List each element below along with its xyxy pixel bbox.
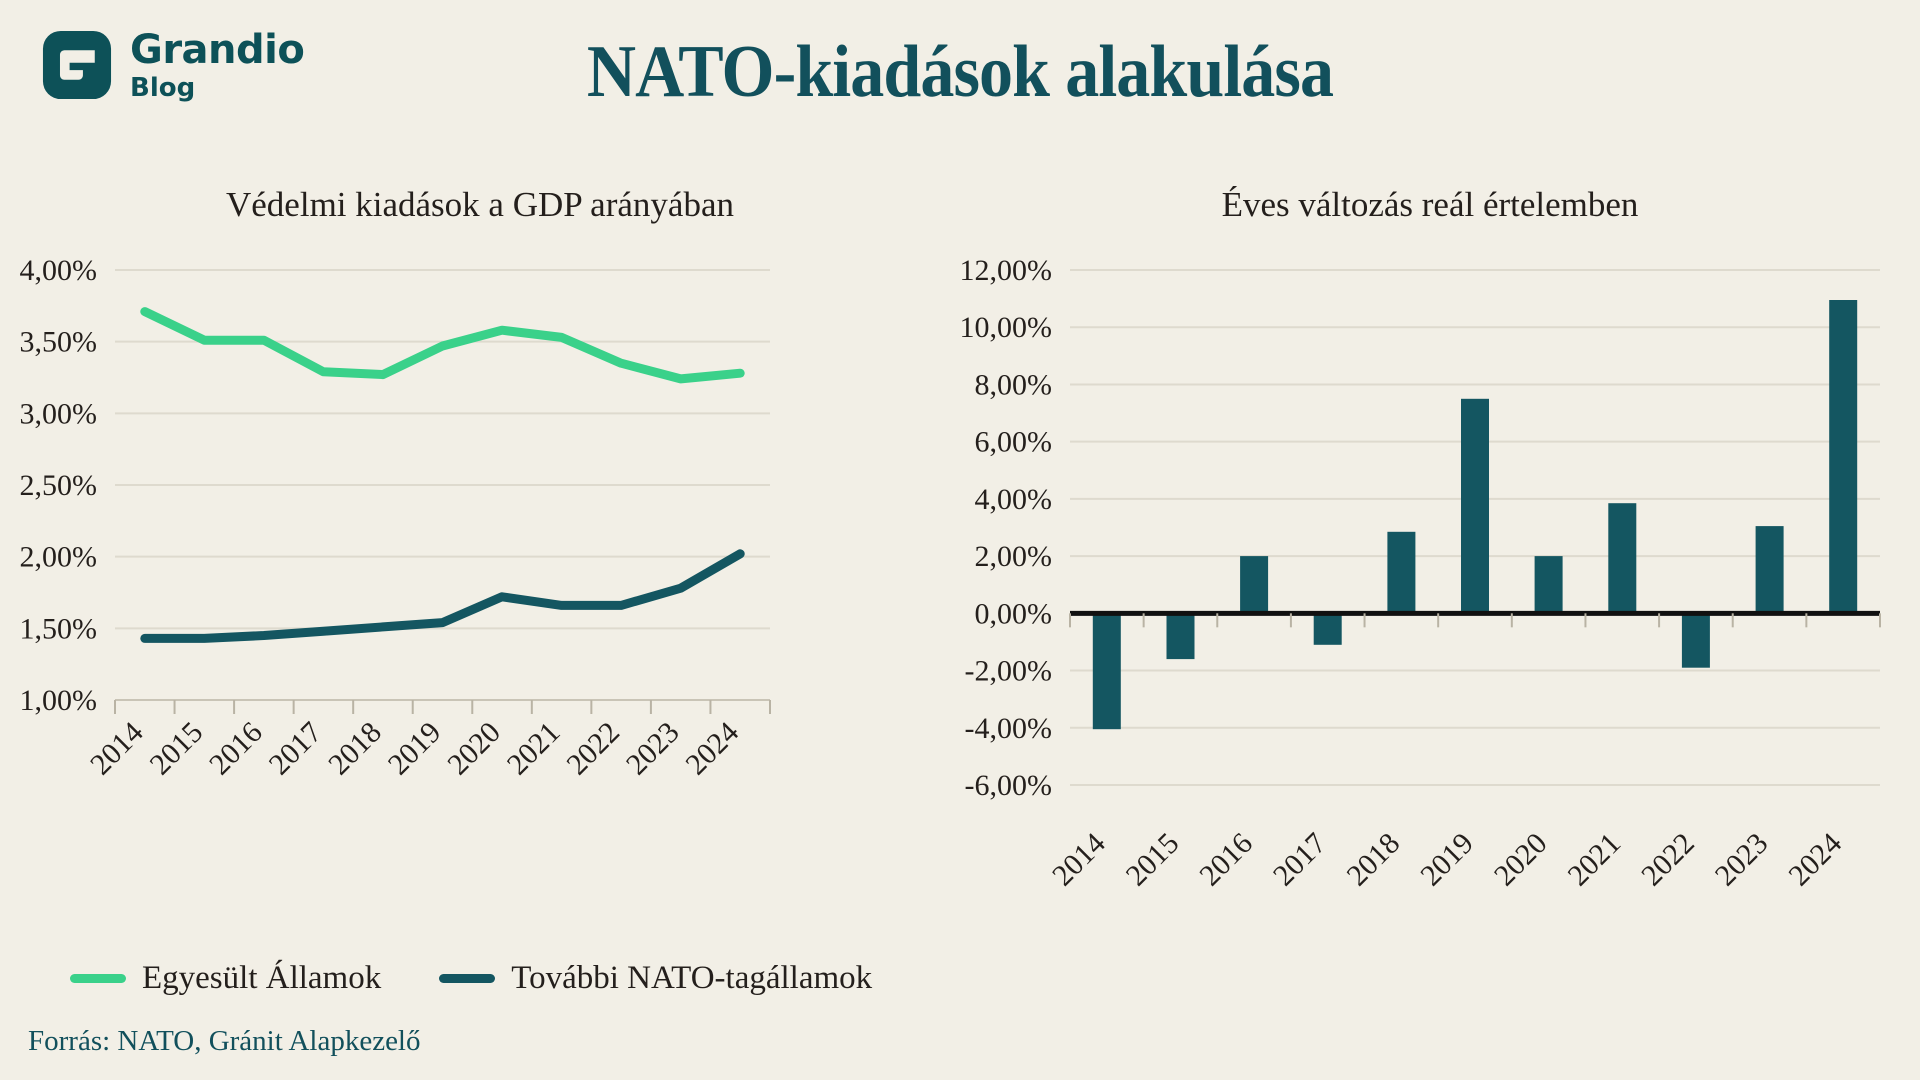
y-tick-label: 2,50%	[20, 469, 98, 502]
bar	[1387, 532, 1415, 614]
bar	[1240, 556, 1268, 613]
legend-item-nato[interactable]: További NATO-tagállamok	[439, 960, 872, 997]
y-tick-label: 4,00%	[20, 254, 98, 287]
bar	[1093, 613, 1121, 729]
left-x-axis: 2014201520162017201820192020202120222023…	[84, 700, 770, 781]
line-series-us	[145, 312, 740, 379]
y-tick-label: 3,50%	[20, 326, 98, 359]
y-tick-label: 3,00%	[20, 397, 98, 430]
y-tick-label: 4,00%	[975, 483, 1053, 516]
y-tick-label: 2,00%	[20, 541, 98, 574]
x-tick-label: 2017	[263, 716, 329, 782]
x-tick-label: 2021	[501, 716, 567, 782]
x-tick-label: 2017	[1267, 827, 1333, 893]
x-tick-label: 2015	[144, 716, 210, 782]
bar	[1756, 526, 1784, 613]
left-series-group	[145, 312, 740, 639]
y-tick-label: 1,50%	[20, 612, 98, 645]
x-tick-label: 2020	[441, 716, 507, 782]
y-tick-label: 12,00%	[960, 254, 1052, 287]
legend-label-us: Egyesült Államok	[142, 960, 381, 997]
legend-label-nato: További NATO-tagállamok	[511, 960, 872, 997]
line-series-nato	[145, 554, 740, 639]
x-tick-label: 2022	[560, 716, 626, 782]
right-y-axis: 12,00%10,00%8,00%6,00%4,00%2,00%0,00%-2,…	[960, 254, 1052, 802]
y-tick-label: 8,00%	[975, 368, 1053, 401]
y-tick-label: 10,00%	[960, 311, 1052, 344]
x-tick-label: 2014	[84, 716, 150, 782]
y-tick-label: -2,00%	[965, 655, 1052, 688]
x-tick-label: 2019	[1414, 827, 1480, 893]
x-tick-label: 2018	[322, 716, 388, 782]
x-tick-label: 2023	[1709, 827, 1775, 893]
x-tick-label: 2022	[1635, 827, 1701, 893]
page-title: NATO-kiadások alakulása	[77, 30, 1843, 115]
x-tick-label: 2024	[1782, 827, 1848, 893]
y-tick-label: 0,00%	[975, 597, 1053, 630]
chart-legend: Egyesült Államok További NATO-tagállamok	[70, 960, 872, 997]
x-tick-label: 2023	[620, 716, 686, 782]
right-bars-group	[1093, 300, 1857, 729]
bar	[1461, 399, 1489, 614]
x-tick-label: 2018	[1341, 827, 1407, 893]
left-y-axis: 4,00%3,50%3,00%2,50%2,00%1,50%1,00%	[20, 254, 98, 717]
bar	[1314, 613, 1342, 645]
x-tick-label: 2016	[203, 716, 269, 782]
x-tick-label: 2020	[1488, 827, 1554, 893]
y-tick-label: 2,00%	[975, 540, 1053, 573]
y-tick-label: -4,00%	[965, 712, 1052, 745]
bar	[1829, 300, 1857, 613]
x-tick-label: 2016	[1193, 827, 1259, 893]
bar	[1535, 556, 1563, 613]
bar-chart-real-change: 12,00%10,00%8,00%6,00%4,00%2,00%0,00%-2,…	[960, 225, 1900, 945]
bar	[1682, 613, 1710, 667]
x-tick-label: 2021	[1561, 827, 1627, 893]
y-tick-label: -6,00%	[965, 769, 1052, 802]
left-chart-title: Védelmi kiadások a GDP arányában	[60, 185, 900, 225]
bar	[1167, 613, 1195, 659]
x-tick-label: 2019	[382, 716, 448, 782]
line-chart-gdp-share: 4,00%3,50%3,00%2,50%2,00%1,50%1,00% 2014…	[10, 240, 800, 940]
legend-item-us[interactable]: Egyesült Államok	[70, 960, 381, 997]
page-header: Grandio Blog NATO-kiadások alakulása	[0, 0, 1920, 150]
y-tick-label: 6,00%	[975, 426, 1053, 459]
x-tick-label: 2014	[1046, 827, 1112, 893]
x-tick-label: 2015	[1120, 827, 1186, 893]
right-chart-title: Éves változás reál értelemben	[1000, 185, 1860, 225]
source-note: Forrás: NATO, Gránit Alapkezelő	[28, 1025, 421, 1058]
x-tick-label: 2024	[679, 716, 745, 782]
y-tick-label: 1,00%	[20, 684, 98, 717]
bar	[1608, 503, 1636, 613]
legend-swatch-nato	[439, 974, 495, 983]
legend-swatch-us	[70, 974, 126, 983]
